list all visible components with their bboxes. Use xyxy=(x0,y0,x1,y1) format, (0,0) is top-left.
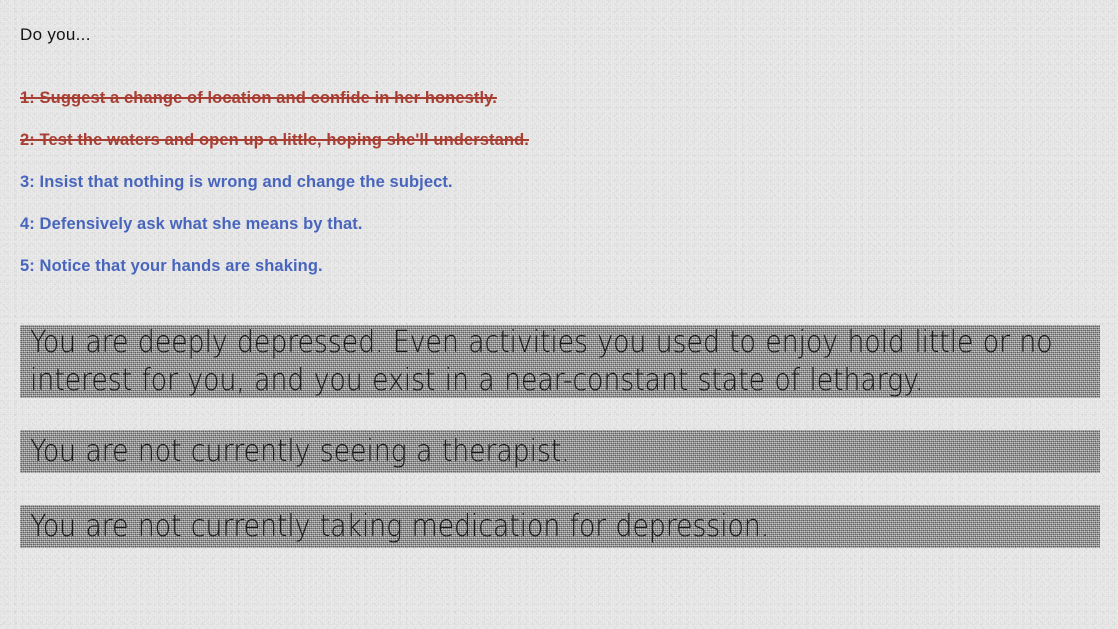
status-band-medication-text: You are not currently taking medication … xyxy=(30,507,769,545)
choice-option-3[interactable]: 3: Insist that nothing is wrong and chan… xyxy=(20,172,1090,214)
status-band-therapist-text: You are not currently seeing a therapist… xyxy=(30,432,570,470)
choice-list: 1: Suggest a change of location and conf… xyxy=(20,88,1090,298)
status-band-therapist: You are not currently seeing a therapist… xyxy=(20,430,1100,473)
choice-option-5[interactable]: 5: Notice that your hands are shaking. xyxy=(20,256,1090,298)
choice-option-4[interactable]: 4: Defensively ask what she means by tha… xyxy=(20,214,1090,256)
status-band-depression: You are deeply depressed. Even activitie… xyxy=(20,325,1100,398)
choice-option-2: 2: Test the waters and open up a little,… xyxy=(20,130,1090,172)
status-band-medication: You are not currently taking medication … xyxy=(20,505,1100,548)
choice-option-1: 1: Suggest a change of location and conf… xyxy=(20,88,1090,130)
page-title: Do you... xyxy=(20,24,91,46)
status-band-depression-text: You are deeply depressed. Even activitie… xyxy=(30,323,1092,399)
